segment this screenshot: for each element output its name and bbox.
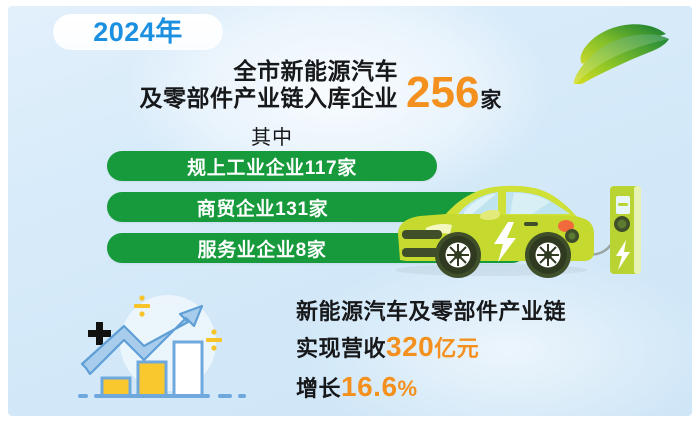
headline-line-1: 全市新能源汽车	[128, 58, 398, 85]
among-label: 其中	[251, 121, 293, 150]
bottom-line-2: 实现营收320亿元	[296, 327, 566, 367]
headline-line-2: 及零部件产业链入库企业	[128, 85, 398, 112]
electric-car-icon	[386, 156, 686, 284]
category-pill-label: 商贸企业131家	[197, 194, 329, 221]
revenue-prefix: 实现营收	[296, 336, 386, 361]
revenue-number: 320	[386, 331, 434, 362]
growth-prefix: 增长	[296, 376, 341, 401]
year-badge: 2024年	[53, 14, 223, 50]
bottom-line-3: 增长16.6%	[296, 367, 566, 407]
headline-text: 全市新能源汽车 及零部件产业链入库企业	[128, 58, 398, 112]
growth-number: 16.6	[341, 371, 398, 402]
growth-percent-sign: %	[398, 376, 418, 401]
year-badge-label: 2024年	[93, 19, 183, 46]
charging-station-icon	[610, 186, 641, 274]
infographic-root: 2024年	[0, 0, 700, 422]
category-pill-label: 规上工业企业117家	[187, 153, 357, 180]
growth-chart-icon	[68, 288, 268, 408]
headline: 全市新能源汽车 及零部件产业链入库企业 256 家	[128, 58, 568, 112]
category-pill-label: 服务业企业8家	[198, 235, 327, 262]
headline-total-number: 256	[406, 71, 479, 115]
headline-total-unit: 家	[480, 90, 501, 111]
revenue-unit: 亿元	[434, 336, 479, 361]
infographic-canvas: 2024年	[8, 6, 692, 416]
bottom-summary: 新能源汽车及零部件产业链 实现营收320亿元 增长16.6%	[296, 296, 566, 407]
leaf-logo-icon	[556, 12, 684, 84]
bottom-line-1: 新能源汽车及零部件产业链	[296, 296, 566, 327]
